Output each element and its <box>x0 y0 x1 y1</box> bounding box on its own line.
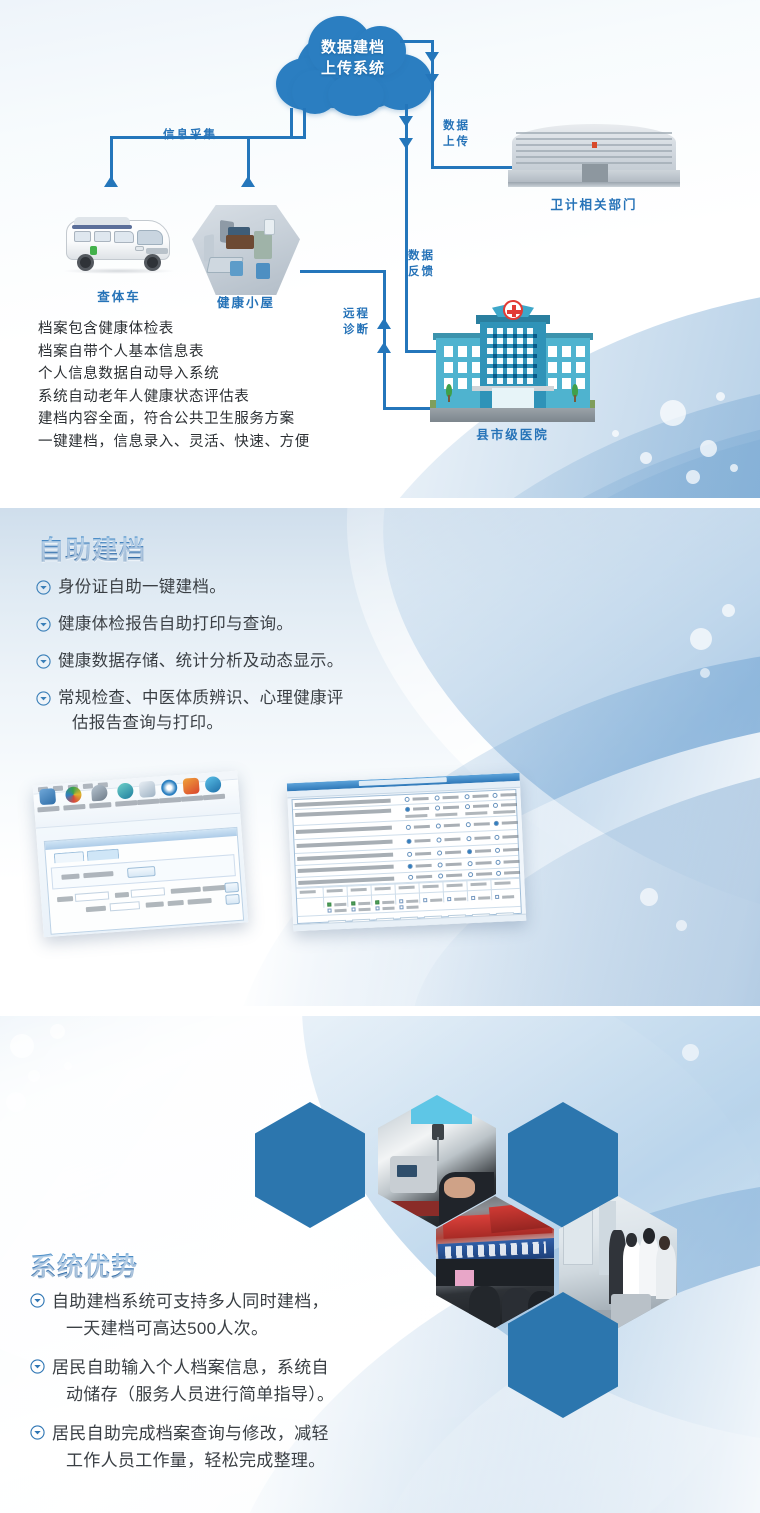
list-item-text: 常规检查、中医体质辨识、心理健康评 <box>58 689 344 707</box>
connector-remote-from-hut <box>300 270 386 273</box>
county-hospital-image <box>430 300 595 422</box>
section2-bullet-list: 身份证自助一键建档。 健康体检报告自助打印与查询。 健康数据存储、统计分析及动态… <box>36 575 496 748</box>
chevron-down-circle-icon <box>36 580 51 595</box>
arrow-remote-1 <box>377 318 391 329</box>
list-item: 居民自助完成档案查询与修改，减轻 工作人员工作量，轻松完成整理。 <box>30 1420 470 1474</box>
list-item-text: 健康体检报告自助打印与查询。 <box>58 615 293 633</box>
arrow-feedback-2 <box>399 138 413 149</box>
chevron-down-circle-icon <box>36 617 51 632</box>
section3-bullet-list: 自助建档系统可支持多人同时建档， 一天建档可高达500人次。 居民自助输入个人档… <box>30 1288 470 1486</box>
list-item: 常规检查、中医体质辨识、心理健康评 估报告查询与打印。 <box>36 686 496 736</box>
section2-title: 自助建档 <box>38 530 146 567</box>
feature-item: 系统自动老年人健康状态评估表 <box>38 386 310 409</box>
chevron-down-circle-icon <box>36 654 51 669</box>
list-item-text: 自助建档系统可支持多人同时建档， <box>52 1292 329 1311</box>
list-item: 身份证自助一键建档。 <box>36 575 496 600</box>
label-remote-diagnosis: 远程 诊断 <box>343 306 370 338</box>
health-hut-image <box>192 205 300 295</box>
chevron-down-circle-icon <box>36 691 51 706</box>
feature-item: 档案自带个人基本信息表 <box>38 341 310 364</box>
label-data-upload-line1: 数据 <box>443 118 470 134</box>
list-item-text: 居民自助输入个人档案信息，系统自 <box>52 1358 329 1377</box>
screenshot-health-assessment-form <box>287 773 526 931</box>
node-label-van: 查体车 <box>60 286 178 305</box>
list-item-text-line2: 工作人员工作量，轻松完成整理。 <box>52 1447 329 1474</box>
archive-feature-list: 档案包含健康体检表 档案自带个人基本信息表 个人信息数据自动导入系统 系统自动老… <box>38 318 310 454</box>
list-item: 健康数据存储、统计分析及动态显示。 <box>36 649 496 674</box>
node-label-health-authority: 卫计相关部门 <box>508 194 680 213</box>
page-root: 数据建档 上传系统 信息采集 数据 上传 数据 反馈 <box>0 0 760 1513</box>
list-item: 居民自助输入个人档案信息，系统自 动储存（服务人员进行简单指导）。 <box>30 1354 470 1408</box>
label-data-feedback-line1: 数据 <box>408 248 435 264</box>
health-authority-building-image <box>508 120 680 188</box>
label-remote-diagnosis-line1: 远程 <box>343 306 370 322</box>
section-divider-2 <box>0 1006 760 1016</box>
chevron-down-circle-icon <box>30 1293 45 1308</box>
label-data-upload-line2: 上传 <box>443 134 470 150</box>
label-data-feedback-line2: 反馈 <box>408 264 435 280</box>
section3-title: 系统优势 <box>30 1247 138 1284</box>
label-remote-diagnosis-line2: 诊断 <box>343 322 370 338</box>
cloud-system-label: 数据建档 上传系统 <box>268 37 438 79</box>
feature-item: 档案包含健康体检表 <box>38 318 310 341</box>
arrow-remote-2 <box>377 342 391 353</box>
arrow-to-van <box>104 176 118 187</box>
node-label-county-hospital: 县市级医院 <box>430 424 595 443</box>
list-item-text: 居民自助完成档案查询与修改，减轻 <box>52 1424 329 1443</box>
feature-item: 建档内容全面，符合公共卫生服务方案 <box>38 408 310 431</box>
screenshot-archive-management-app <box>33 771 249 938</box>
list-item-text: 身份证自助一键建档。 <box>58 578 226 596</box>
list-item-text-line2: 动储存（服务人员进行简单指导）。 <box>52 1381 334 1408</box>
cloud-label-line2: 上传系统 <box>268 58 438 79</box>
list-item: 自助建档系统可支持多人同时建档， 一天建档可高达500人次。 <box>30 1288 470 1342</box>
list-item: 健康体检报告自助打印与查询。 <box>36 612 496 637</box>
connector-collect-vertical <box>303 108 306 138</box>
section-divider-1 <box>0 498 760 508</box>
feature-item: 个人信息数据自动导入系统 <box>38 363 310 386</box>
label-data-upload: 数据 上传 <box>443 118 470 150</box>
label-data-feedback: 数据 反馈 <box>408 248 435 280</box>
list-item-text-line2: 估报告查询与打印。 <box>58 711 344 736</box>
list-item-text: 健康数据存储、统计分析及动态显示。 <box>58 652 344 670</box>
mobile-examination-van-image <box>60 212 178 274</box>
node-label-health-hut: 健康小屋 <box>192 292 300 311</box>
hospital-cross-icon <box>503 300 523 320</box>
cloud-label-line1: 数据建档 <box>268 37 438 58</box>
label-info-collect: 信息采集 <box>163 128 217 143</box>
arrow-to-hut <box>241 176 255 187</box>
connector-upload-to-gov <box>431 166 513 169</box>
arrow-feedback-1 <box>399 116 413 127</box>
connector-remote-vertical <box>383 270 386 410</box>
section-flow-diagram: 数据建档 上传系统 信息采集 数据 上传 数据 反馈 <box>0 0 760 500</box>
chevron-down-circle-icon <box>30 1425 45 1440</box>
chevron-down-circle-icon <box>30 1359 45 1374</box>
list-item-text-line2: 一天建档可高达500人次。 <box>52 1315 329 1342</box>
feature-item: 一键建档，信息录入、灵活、快速、方便 <box>38 431 310 454</box>
